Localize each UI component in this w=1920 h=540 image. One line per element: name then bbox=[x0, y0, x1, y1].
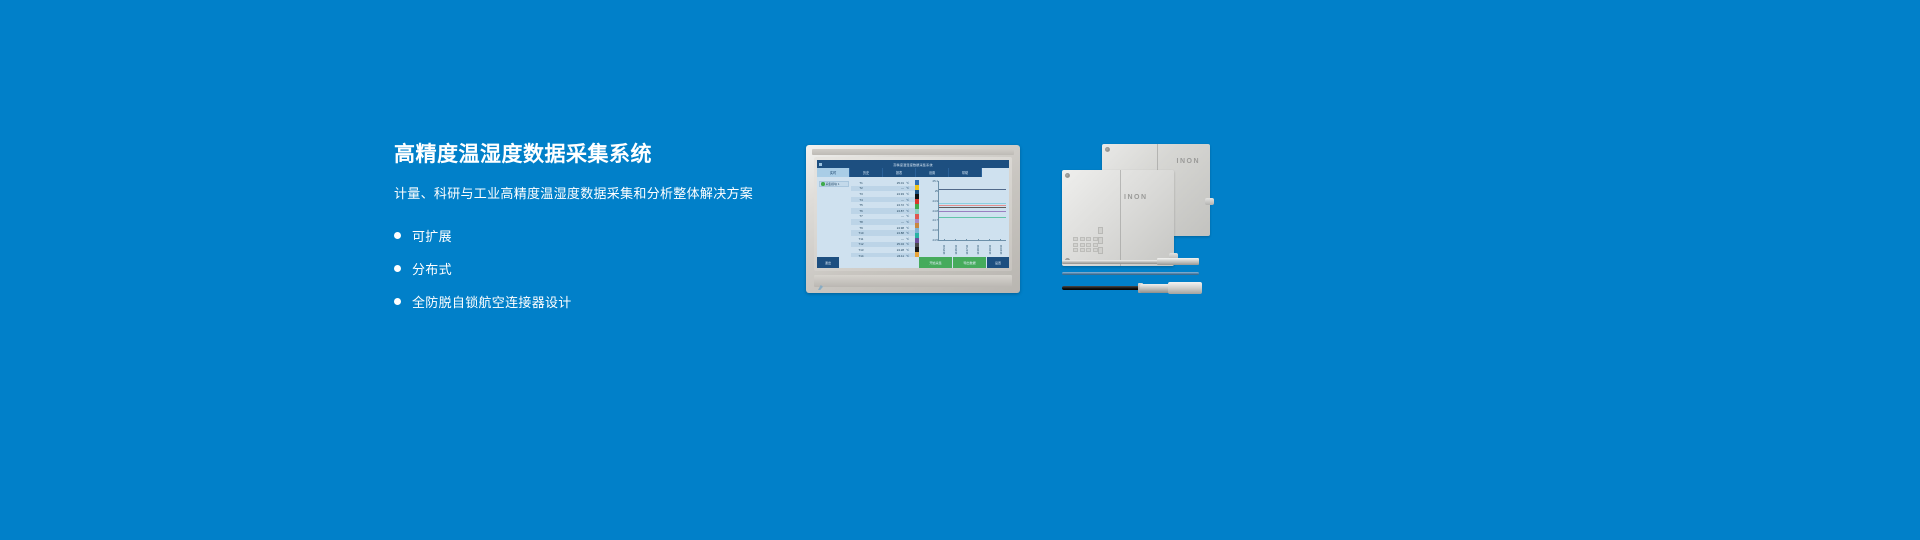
channel-id: T7 bbox=[851, 214, 871, 218]
tab-help[interactable]: 帮助 bbox=[949, 168, 982, 177]
screw-icon bbox=[1105, 147, 1110, 152]
x-axis-tick bbox=[955, 239, 956, 241]
footer-spacer bbox=[839, 257, 919, 268]
channel-value: 24.87 bbox=[871, 209, 906, 213]
app-body: 采集模块 1 T1 25.01 ℃ T2 --- ℃ bbox=[817, 177, 1009, 257]
settings-button[interactable]: 设置 bbox=[987, 257, 1009, 268]
chart-series-line bbox=[939, 217, 1006, 218]
table-row[interactable]: T13 24.28 ℃ bbox=[851, 247, 915, 253]
module-brand-label: INON bbox=[1177, 158, 1201, 165]
chart-series-line bbox=[939, 189, 1006, 190]
probe-tip bbox=[1157, 258, 1199, 265]
port-group-icon bbox=[1098, 227, 1103, 254]
screw-icon bbox=[1065, 173, 1070, 178]
table-row[interactable]: T12 25.04 ℃ bbox=[851, 242, 915, 248]
table-row[interactable]: T4 --- ℃ bbox=[851, 197, 915, 203]
channel-unit: ℃ bbox=[906, 214, 915, 218]
channel-id: T3 bbox=[851, 192, 871, 196]
temperature-probe bbox=[1062, 258, 1197, 265]
channel-id: T9 bbox=[851, 226, 871, 230]
feature-list: 可扩展 分布式 全防脱自锁航空连接器设计 bbox=[394, 222, 814, 314]
channel-value: 24.72 bbox=[871, 203, 906, 207]
feature-label: 分布式 bbox=[412, 259, 452, 278]
list-item[interactable]: 采集模块 1 bbox=[819, 181, 849, 187]
x-axis-tick bbox=[989, 239, 990, 241]
app-title-bar: 高精度温湿度数据采集系统 bbox=[817, 160, 1009, 168]
channel-value: --- bbox=[871, 220, 906, 224]
channel-value: --- bbox=[871, 237, 906, 241]
channel-id: T12 bbox=[851, 242, 871, 246]
bullet-dot-icon bbox=[394, 265, 401, 272]
tab-settings[interactable]: 设置 bbox=[916, 168, 949, 177]
panel-pc-bottom-trim bbox=[814, 275, 1012, 287]
chart-plot-area bbox=[939, 181, 1006, 240]
table-row[interactable]: T5 24.72 ℃ bbox=[851, 202, 915, 208]
channel-id: T13 bbox=[851, 248, 871, 252]
cable-body bbox=[1062, 272, 1199, 275]
module-brand-label: INON bbox=[1124, 194, 1148, 201]
export-data-button[interactable]: 导出数据 bbox=[953, 257, 987, 268]
channel-value: 24.88 bbox=[871, 231, 906, 235]
chart-series-line bbox=[939, 205, 1006, 206]
channel-id: T4 bbox=[851, 198, 871, 202]
x-axis-tick-label: 10:28:02 bbox=[977, 245, 980, 255]
tab-bar-filler bbox=[982, 168, 1009, 177]
x-axis-tick bbox=[944, 239, 945, 241]
channel-unit: ℃ bbox=[906, 231, 915, 235]
table-row[interactable]: T3 24.93 ℃ bbox=[851, 191, 915, 197]
channel-unit: ℃ bbox=[906, 192, 915, 196]
page-subtitle: 计量、科研与工业高精度温湿度数据采集和分析整体解决方案 bbox=[394, 186, 814, 203]
app-tab-bar: 实时 历史 报表 设置 帮助 bbox=[817, 168, 1009, 177]
x-axis-tick-label: 10:27:02 bbox=[966, 245, 969, 255]
table-row[interactable]: T6 24.87 ℃ bbox=[851, 208, 915, 214]
channel-unit: ℃ bbox=[906, 220, 915, 224]
chart-series-line bbox=[939, 203, 1006, 204]
trend-chart: 25.12524.924.824.724.624.5 10:25:0210:26… bbox=[919, 177, 1009, 257]
tab-history[interactable]: 历史 bbox=[850, 168, 883, 177]
terminal-block-icon bbox=[1073, 237, 1098, 252]
status-led-icon bbox=[821, 182, 825, 186]
channel-id: T2 bbox=[851, 186, 871, 190]
x-axis-tick bbox=[978, 239, 979, 241]
chart-x-axis: 10:25:0210:26:0210:27:0210:28:0210:29:02… bbox=[938, 240, 1006, 257]
channel-unit: ℃ bbox=[906, 226, 915, 230]
channel-unit: ℃ bbox=[906, 248, 915, 252]
x-axis-tick-label: 10:26:02 bbox=[955, 245, 958, 255]
app-window-title: 高精度温湿度数据采集系统 bbox=[817, 162, 1009, 167]
device-name: 采集模块 1 bbox=[826, 182, 840, 186]
acquisition-module-front: INON bbox=[1062, 170, 1174, 266]
table-row[interactable]: T11 --- ℃ bbox=[851, 236, 915, 242]
channel-unit: ℃ bbox=[906, 181, 915, 185]
exit-button[interactable]: 退出 bbox=[817, 257, 839, 268]
module-seam bbox=[1120, 170, 1121, 266]
connector-barrel bbox=[1140, 284, 1170, 293]
tab-report[interactable]: 报表 bbox=[883, 168, 916, 177]
channel-value: --- bbox=[871, 214, 906, 218]
list-item: 可扩展 bbox=[394, 222, 814, 248]
bullet-dot-icon bbox=[394, 298, 401, 305]
channel-unit: ℃ bbox=[906, 186, 915, 190]
feature-label: 可扩展 bbox=[412, 226, 452, 245]
bullet-dot-icon bbox=[394, 232, 401, 239]
feature-label: 全防脱自锁航空连接器设计 bbox=[412, 292, 572, 311]
channel-id: T6 bbox=[851, 209, 871, 213]
aviation-connector-probe bbox=[1062, 282, 1202, 294]
tab-realtime[interactable]: 实时 bbox=[817, 168, 850, 177]
channel-unit: ℃ bbox=[906, 198, 915, 202]
table-row[interactable]: T10 24.88 ℃ bbox=[851, 230, 915, 236]
chart-series-line bbox=[939, 211, 1006, 212]
table-row[interactable]: T8 --- ℃ bbox=[851, 219, 915, 225]
channel-id: T10 bbox=[851, 231, 871, 235]
app-footer-bar: 退出 开始采集 导出数据 设置 bbox=[817, 257, 1009, 268]
channel-table: T1 25.01 ℃ T2 --- ℃ T3 24.93 ℃ bbox=[851, 177, 915, 257]
panel-pc-screen: 高精度温湿度数据采集系统 实时 历史 报表 设置 帮助 采集模块 1 bbox=[817, 160, 1009, 268]
start-capture-button[interactable]: 开始采集 bbox=[919, 257, 953, 268]
channel-value: --- bbox=[871, 186, 906, 190]
chart-series-line bbox=[939, 207, 1006, 208]
cable-body bbox=[1062, 286, 1144, 290]
table-row[interactable]: T2 --- ℃ bbox=[851, 186, 915, 192]
list-item: 全防脱自锁航空连接器设计 bbox=[394, 288, 814, 314]
channel-id: T11 bbox=[851, 237, 871, 241]
x-axis-tick-label: 10:29:02 bbox=[989, 245, 992, 255]
x-axis-tick-label: 10:25:02 bbox=[943, 245, 946, 255]
channel-id: T8 bbox=[851, 220, 871, 224]
table-row[interactable]: T7 --- ℃ bbox=[851, 214, 915, 220]
page-title: 高精度温湿度数据采集系统 bbox=[394, 142, 814, 167]
table-row[interactable]: T1 25.01 ℃ bbox=[851, 180, 915, 186]
x-axis-tick bbox=[1000, 239, 1001, 241]
channel-panel: 采集模块 1 T1 25.01 ℃ T2 --- ℃ bbox=[817, 177, 919, 257]
channel-value: 25.01 bbox=[871, 181, 906, 185]
list-item: 分布式 bbox=[394, 255, 814, 281]
channel-value: 24.28 bbox=[871, 248, 906, 252]
channel-value: 24.93 bbox=[871, 192, 906, 196]
channel-unit: ℃ bbox=[906, 242, 915, 246]
channel-id: T1 bbox=[851, 181, 871, 185]
connector-housing bbox=[1168, 282, 1202, 294]
panel-pc-product-image: 高精度温湿度数据采集系统 实时 历史 报表 设置 帮助 采集模块 1 bbox=[806, 145, 1020, 293]
channel-value: 25.04 bbox=[871, 242, 906, 246]
cable-gland-icon bbox=[1205, 198, 1214, 205]
x-axis-tick-label: 10:30:02 bbox=[1000, 245, 1003, 255]
sensor-cable-blue bbox=[1062, 272, 1199, 275]
channel-value: 24.98 bbox=[871, 226, 906, 230]
channel-unit: ℃ bbox=[906, 203, 915, 207]
table-row[interactable]: T9 24.98 ℃ bbox=[851, 225, 915, 231]
channel-value: --- bbox=[871, 198, 906, 202]
probe-shaft bbox=[1062, 260, 1160, 264]
panel-pc-bezel: 高精度温湿度数据采集系统 实时 历史 报表 设置 帮助 采集模块 1 bbox=[814, 157, 1012, 271]
x-axis-tick bbox=[966, 239, 967, 241]
hardware-product-images: INON INON bbox=[1062, 144, 1212, 296]
channel-id: T5 bbox=[851, 203, 871, 207]
device-list: 采集模块 1 bbox=[817, 177, 851, 257]
panel-pc-top-vent bbox=[812, 149, 1014, 155]
channel-unit: ℃ bbox=[906, 209, 915, 213]
channel-unit: ℃ bbox=[906, 237, 915, 241]
hero-copy: 高精度温湿度数据采集系统 计量、科研与工业高精度温湿度数据采集和分析整体解决方案… bbox=[394, 142, 814, 321]
